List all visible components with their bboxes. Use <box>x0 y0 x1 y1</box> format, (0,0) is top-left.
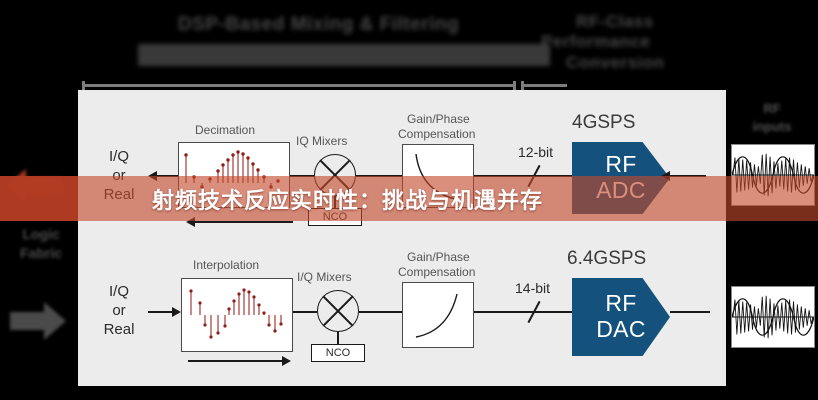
logic-fabric-caption-line1: Logic <box>6 225 76 244</box>
rf-inputs-caption-line1: RF <box>742 100 802 118</box>
tx-io-label-line3: Real <box>92 321 146 340</box>
tx-nco-block: NCO <box>311 344 365 362</box>
rf-inputs-caption: RF inputs <box>742 100 802 135</box>
tx-gain-phase-curve-icon <box>403 283 473 347</box>
tx-comp-label-line2: Compensation <box>398 265 475 279</box>
rx-bit-width-label: 12-bit <box>518 144 553 160</box>
tx-wire-comp-to-dac <box>474 311 572 313</box>
tx-rf-dac-line1: RF <box>596 291 645 317</box>
tx-wire-mixer-to-comp <box>359 311 402 313</box>
tx-interpolation-direction-arrowhead-icon <box>282 356 291 366</box>
rf-title-line1: RF-Class <box>576 12 654 32</box>
rx-comp-label-line2: Compensation <box>398 127 475 141</box>
tx-mixer-label: I/Q Mixers <box>297 270 352 284</box>
block-diagram-panel: I/Q or Real Decimation <box>78 90 726 386</box>
rx-sample-rate-label: 4GSPS <box>572 112 635 134</box>
tx-interpolation-waveform-icon <box>182 279 292 351</box>
tx-io-label-line1: I/Q <box>92 283 146 302</box>
tx-sample-rate-label: 6.4GSPS <box>567 248 646 270</box>
tx-io-label: I/Q or Real <box>92 283 146 339</box>
bracket-cap-right <box>513 81 516 90</box>
rf-title-line3: Conversion <box>566 53 665 73</box>
tx-wire-interp-to-mixer <box>293 311 317 313</box>
rx-io-label-line1: I/Q <box>92 148 146 167</box>
logic-fabric-caption: Logic Fabric <box>6 225 76 263</box>
rx-decimation-direction-line <box>195 221 293 223</box>
rx-rf-adc-line1: RF <box>596 152 645 178</box>
tx-bit-width-label: 14-bit <box>515 280 550 296</box>
rf-span-bracket <box>521 81 567 90</box>
tx-wire-from-fabric <box>148 311 172 313</box>
logic-fabric-caption-line2: Fabric <box>6 244 76 263</box>
tx-io-label-line2: or <box>92 302 146 321</box>
tx-interpolation-direction-line <box>188 360 282 362</box>
rf-title-line2: Performance <box>541 32 650 52</box>
bracket-bar <box>82 84 516 87</box>
dsp-span-bracket <box>82 81 516 90</box>
tx-comp-label-line1: Gain/Phase <box>407 250 470 264</box>
tx-iq-mixer <box>317 290 359 332</box>
tx-input-arrowhead-icon <box>172 307 181 317</box>
tx-nco-stem <box>337 332 339 344</box>
tx-rf-dac-block: RF DAC <box>572 278 670 356</box>
dsp-title-line1: DSP-Based Mixing & Filtering <box>178 14 459 36</box>
logic-fabric-output-arrow-icon <box>10 300 66 342</box>
tx-rf-dac-text: RF DAC <box>596 291 645 343</box>
rf-output-scope <box>731 286 815 348</box>
tx-rf-dac-line2: DAC <box>596 317 645 343</box>
overlay-banner-text: 射频技术反应实时性：挑战与机遇并存 <box>152 183 543 215</box>
rx-mixer-label: IQ Mixers <box>296 134 347 148</box>
rx-filter-label: Decimation <box>195 123 255 137</box>
dsp-title-line2: Reduces I/O Bandwidth, Power, Complexity <box>138 44 550 66</box>
tx-gain-phase-block <box>402 282 474 348</box>
title-zone: DSP-Based Mixing & Filtering Reduces I/O… <box>0 0 818 86</box>
rf-output-waveform-icon <box>732 287 814 347</box>
tx-interpolation-block <box>181 278 293 352</box>
tx-wire-dac-to-output <box>670 311 710 313</box>
bracket-bar <box>521 84 567 87</box>
tx-filter-label: Interpolation <box>193 258 259 272</box>
rf-inputs-caption-line2: inputs <box>742 118 802 136</box>
overlay-banner: 射频技术反应实时性：挑战与机遇并存 <box>0 176 818 221</box>
screenshot-root: DSP-Based Mixing & Filtering Reduces I/O… <box>0 0 818 400</box>
rx-comp-label-line1: Gain/Phase <box>407 112 470 126</box>
